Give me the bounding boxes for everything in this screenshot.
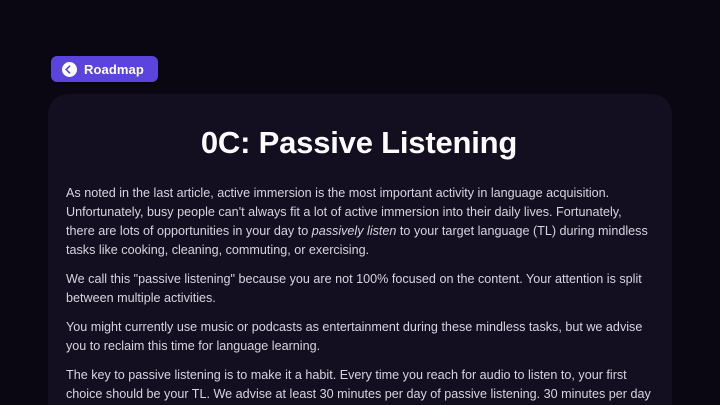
article-title: 0C: Passive Listening: [66, 125, 652, 161]
roadmap-back-button-label: Roadmap: [84, 63, 144, 76]
roadmap-back-button[interactable]: Roadmap: [51, 56, 158, 82]
article-card: 0C: Passive Listening As noted in the la…: [48, 94, 672, 405]
article-paragraph: You might currently use music or podcast…: [66, 318, 652, 356]
article-paragraph: We call this "passive listening" because…: [66, 270, 652, 308]
circle-arrow-left-icon: [62, 62, 77, 77]
article-body: As noted in the last article, active imm…: [66, 184, 652, 405]
article-paragraph: The key to passive listening is to make …: [66, 366, 652, 405]
article-paragraph: As noted in the last article, active imm…: [66, 184, 652, 260]
page-root: Roadmap 0C: Passive Listening As noted i…: [0, 0, 720, 405]
